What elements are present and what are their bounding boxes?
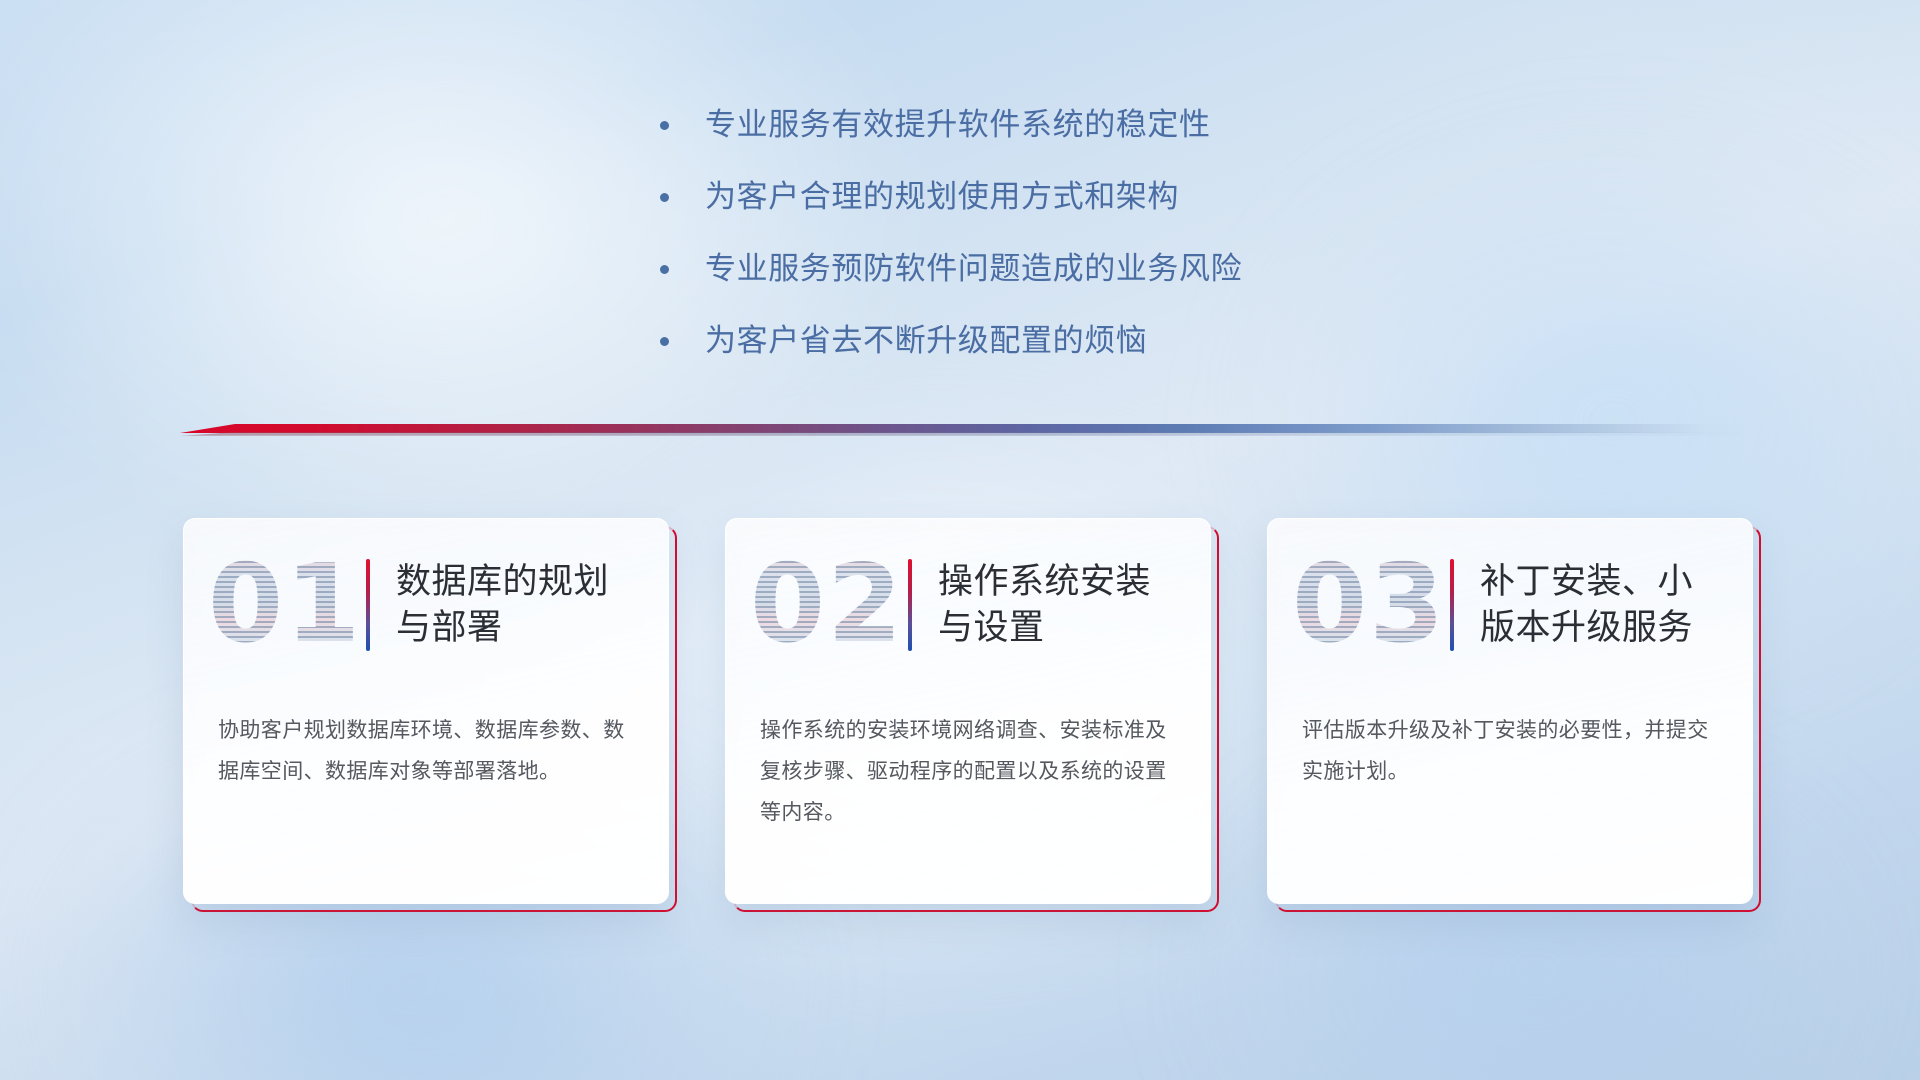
service-card-group: 01 数据库的规划与部署 协助客户规划数据库环境、数据库参数、数据库空间、数据库…: [183, 518, 1753, 904]
bullet-text: 专业服务预防软件问题造成的业务风险: [705, 248, 1242, 290]
card-divider-bar: [366, 559, 370, 651]
card-description: 操作系统的安装环境网络调查、安装标准及复核步骤、驱动程序的配置以及系统的设置等内…: [760, 711, 1180, 834]
card-header: 03 补丁安装、小版本升级服务: [1268, 519, 1753, 691]
card-number: 02: [750, 551, 902, 659]
card-number: 03: [1292, 551, 1444, 659]
benefits-bullet-list: 专业服务有效提升软件系统的稳定性 为客户合理的规划使用方式和架构 专业服务预防软…: [660, 104, 1480, 391]
list-item: 专业服务预防软件问题造成的业务风险: [660, 248, 1480, 290]
bullet-text: 为客户合理的规划使用方式和架构: [705, 176, 1179, 218]
section-divider-stripe: [180, 424, 1750, 433]
card-surface: 01 数据库的规划与部署 协助客户规划数据库环境、数据库参数、数据库空间、数据库…: [183, 518, 669, 904]
section-divider: [180, 424, 1750, 440]
bullet-dot-icon: [660, 193, 669, 202]
card-number: 01: [208, 551, 360, 659]
bullet-dot-icon: [660, 121, 669, 130]
bullet-dot-icon: [660, 337, 669, 346]
card-divider-bar: [908, 559, 912, 651]
bullet-text: 为客户省去不断升级配置的烦恼: [705, 320, 1147, 362]
list-item: 为客户省去不断升级配置的烦恼: [660, 320, 1480, 362]
section-divider-shadow: [180, 432, 1750, 436]
card-title: 补丁安装、小版本升级服务: [1480, 559, 1753, 651]
service-card-02[interactable]: 02 操作系统安装与设置 操作系统的安装环境网络调查、安装标准及复核步骤、驱动程…: [725, 518, 1211, 904]
list-item: 专业服务有效提升软件系统的稳定性: [660, 104, 1480, 146]
slide-root: 专业服务有效提升软件系统的稳定性 为客户合理的规划使用方式和架构 专业服务预防软…: [0, 0, 1920, 1080]
list-item: 为客户合理的规划使用方式和架构: [660, 176, 1480, 218]
card-description: 协助客户规划数据库环境、数据库参数、数据库空间、数据库对象等部署落地。: [218, 711, 638, 793]
card-header: 02 操作系统安装与设置: [726, 519, 1211, 691]
card-title: 操作系统安装与设置: [938, 559, 1211, 651]
service-card-01[interactable]: 01 数据库的规划与部署 协助客户规划数据库环境、数据库参数、数据库空间、数据库…: [183, 518, 669, 904]
bullet-text: 专业服务有效提升软件系统的稳定性: [705, 104, 1211, 146]
card-header: 01 数据库的规划与部署: [184, 519, 669, 691]
service-card-03[interactable]: 03 补丁安装、小版本升级服务 评估版本升级及补丁安装的必要性，并提交实施计划。: [1267, 518, 1753, 904]
card-divider-bar: [1450, 559, 1454, 651]
card-description: 评估版本升级及补丁安装的必要性，并提交实施计划。: [1302, 711, 1722, 793]
card-surface: 03 补丁安装、小版本升级服务 评估版本升级及补丁安装的必要性，并提交实施计划。: [1267, 518, 1753, 904]
card-title: 数据库的规划与部署: [396, 559, 669, 651]
card-surface: 02 操作系统安装与设置 操作系统的安装环境网络调查、安装标准及复核步骤、驱动程…: [725, 518, 1211, 904]
bullet-dot-icon: [660, 265, 669, 274]
